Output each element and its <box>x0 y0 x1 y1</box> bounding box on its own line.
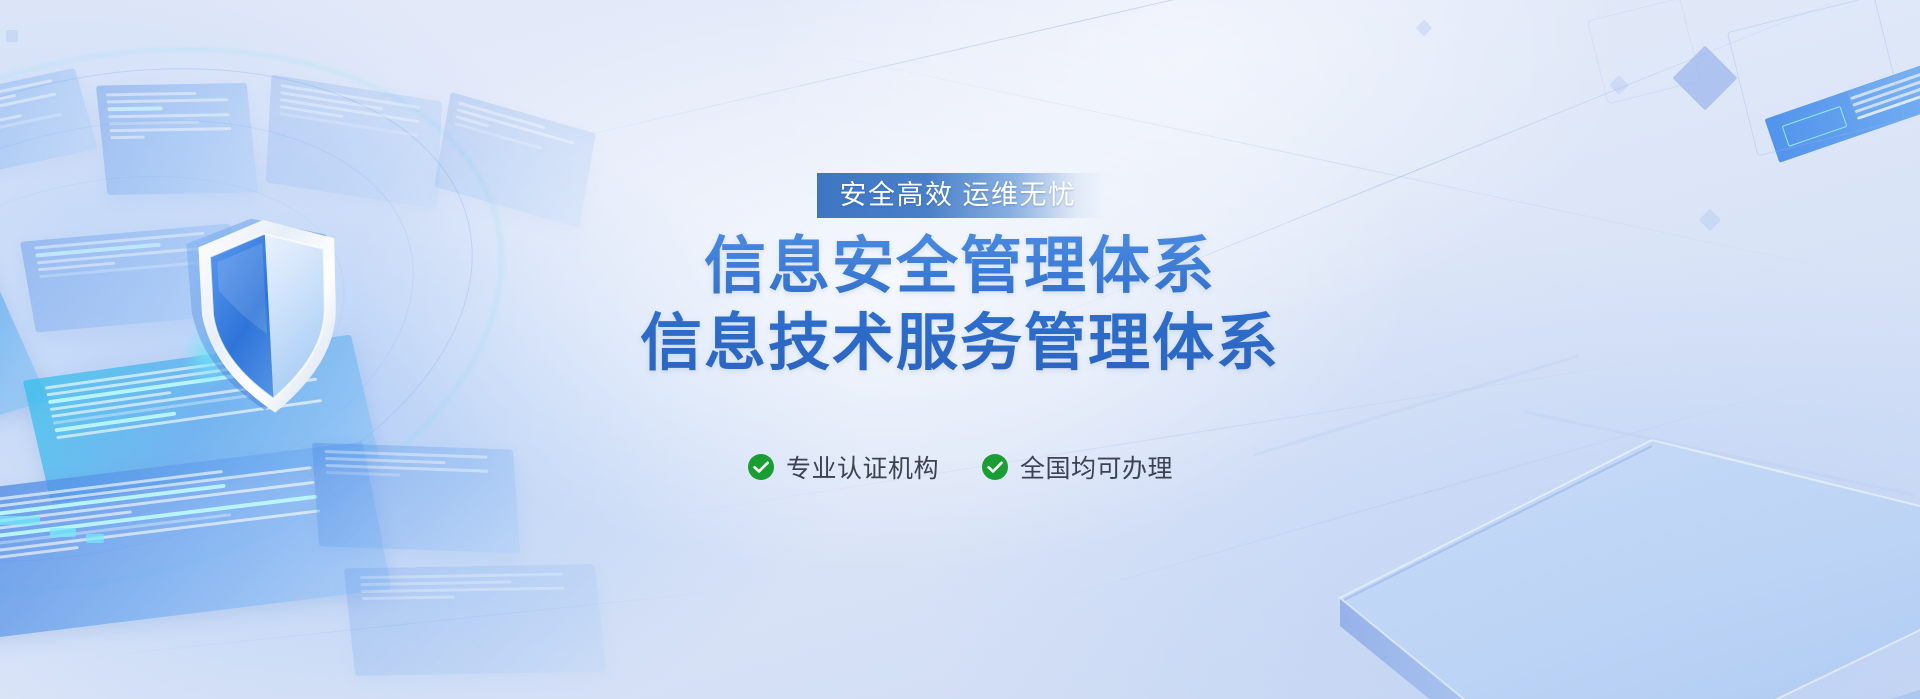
check-circle-icon <box>747 453 775 481</box>
feature-item-nationwide: 全国均可办理 <box>981 449 1173 485</box>
headline-line-2: 信息技术服务管理体系 <box>640 309 1280 380</box>
page-title: 信息安全管理体系 信息技术服务管理体系 <box>640 232 1280 379</box>
feature-item-certification: 专业认证机构 <box>747 449 939 485</box>
feature-label: 全国均可办理 <box>1020 449 1173 485</box>
headline-line-1: 信息安全管理体系 <box>640 232 1280 303</box>
hero-content: 安全高效 运维无忧 信息安全管理体系 信息技术服务管理体系 专业认证机构 <box>0 0 1920 699</box>
feature-label: 专业认证机构 <box>786 449 939 485</box>
tagline-badge: 安全高效 运维无忧 <box>817 173 1102 218</box>
hero-banner: 安全高效 运维无忧 信息安全管理体系 信息技术服务管理体系 专业认证机构 <box>0 0 1920 699</box>
check-circle-icon <box>981 453 1009 481</box>
feature-list: 专业认证机构 全国均可办理 <box>747 449 1173 485</box>
